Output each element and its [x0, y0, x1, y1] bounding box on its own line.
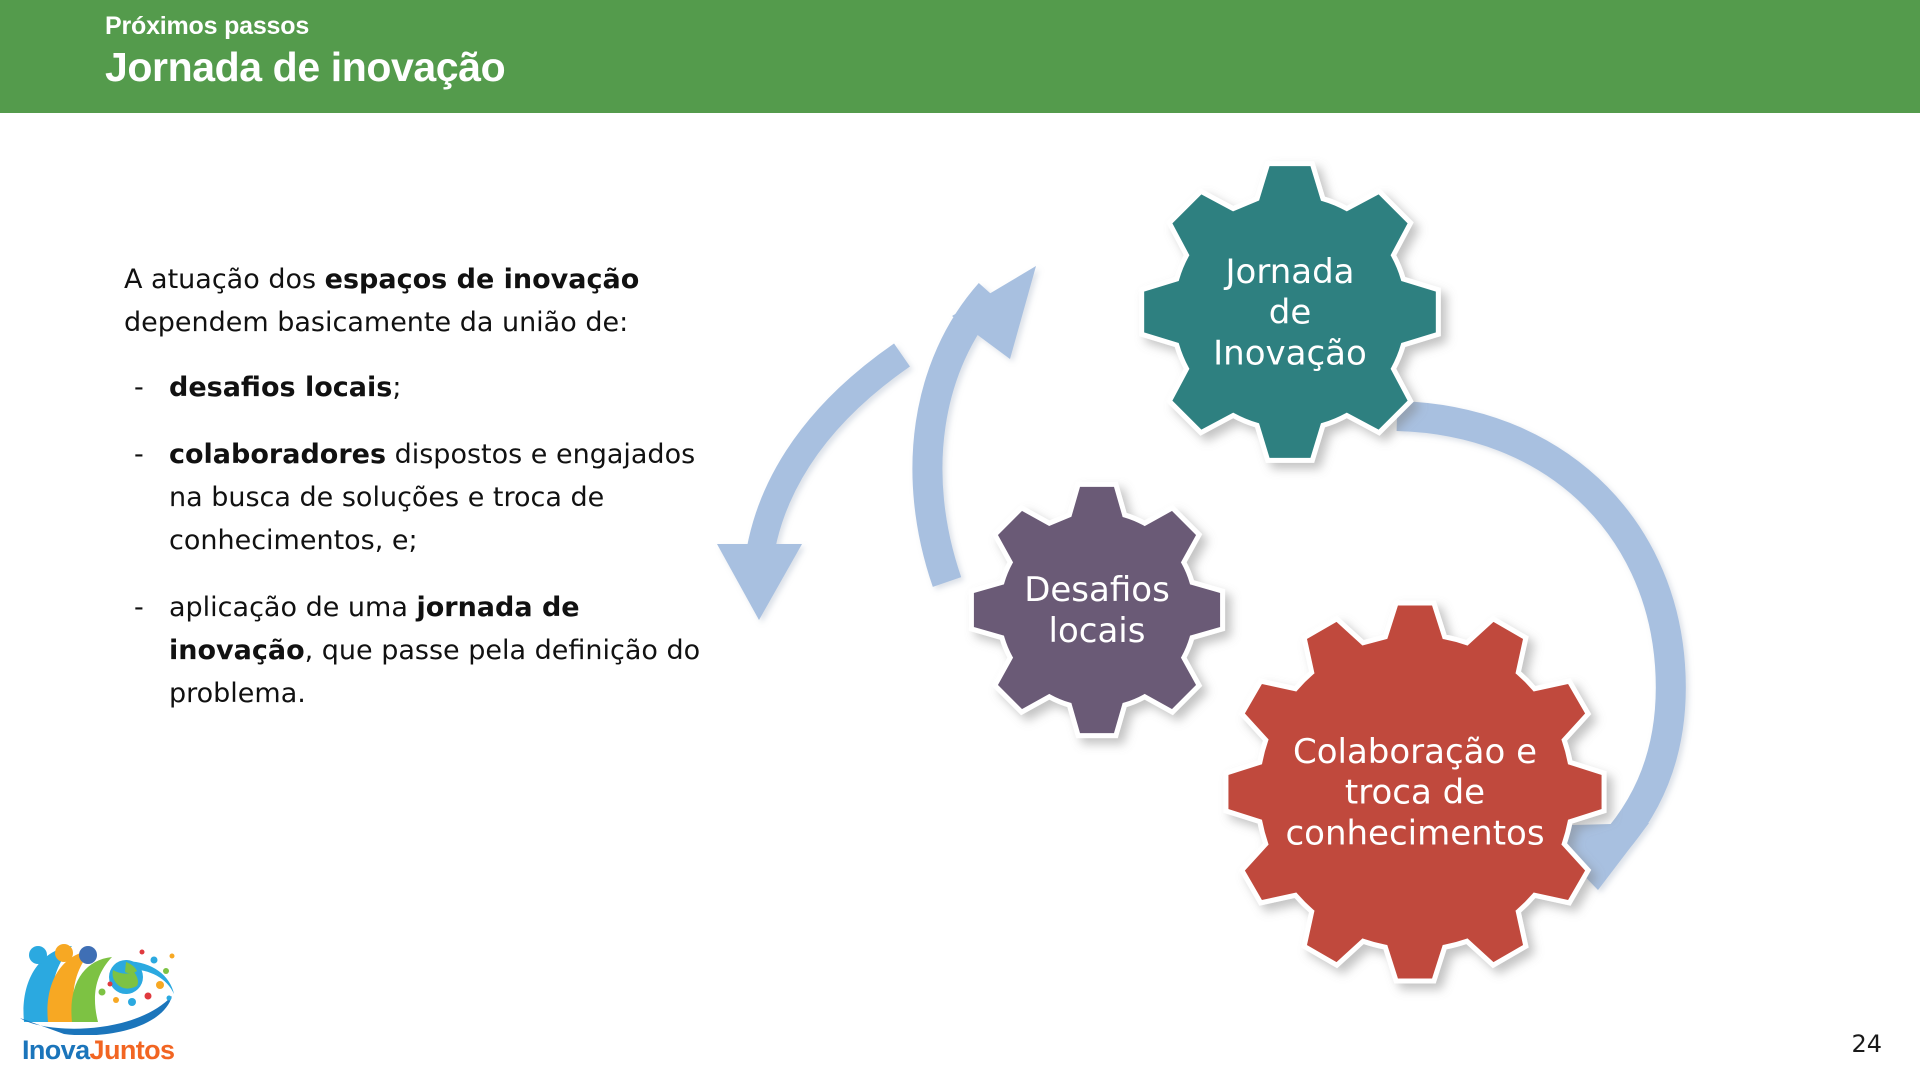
bullet-3-lead: aplicação de uma: [169, 592, 416, 623]
gear-desafios-locais[interactable]: Desafioslocais: [971, 484, 1222, 735]
gear-jornada-inovacao[interactable]: JornadadeInovação: [1142, 164, 1439, 461]
bullet-marker: -: [134, 433, 144, 476]
intro-part-3: dependem basicamente da união de:: [124, 307, 628, 338]
arrow-down-to-desafios-icon: [717, 355, 902, 620]
page-title: Jornada de inovação: [105, 44, 505, 91]
gear-diagram: Desafioslocais JornadadeInovação Colabor…: [660, 120, 1920, 1020]
gear-diagram-svg: Desafioslocais JornadadeInovação Colabor…: [660, 120, 1920, 1020]
list-item: - aplicação de uma jornada de inovação, …: [124, 586, 724, 715]
logo-wordmark: InovaJuntos: [22, 1035, 174, 1066]
gear-colaboracao[interactable]: Colaboração etroca deconhecimentos: [1226, 603, 1604, 981]
bullet-marker: -: [134, 586, 144, 629]
header-eyebrow: Próximos passos: [105, 12, 309, 41]
bullet-1-rest: ;: [392, 372, 401, 403]
logo-word-juntos: Juntos: [90, 1035, 175, 1065]
intro-part-1: A atuação dos: [124, 264, 325, 295]
bullet-1-bold: desafios locais: [169, 372, 392, 403]
list-item: - colaboradores dispostos e engajados na…: [124, 433, 724, 562]
logo-mark-icon: [14, 940, 194, 1035]
header-band: Próximos passos Jornada de inovação: [0, 0, 1920, 113]
logo-inovajuntos: InovaJuntos: [14, 940, 194, 1070]
page-number: 24: [1851, 1030, 1882, 1058]
logo-word-inova: Inova: [22, 1035, 90, 1065]
slide: Próximos passos Jornada de inovação A at…: [0, 0, 1920, 1080]
intro-paragraph: A atuação dos espaços de inovação depend…: [124, 258, 704, 344]
bullet-marker: -: [134, 366, 144, 409]
intro-part-2-bold: espaços de inovação: [325, 264, 640, 295]
bullet-2-bold: colaboradores: [169, 439, 386, 470]
list-item: - desafios locais;: [124, 366, 724, 409]
